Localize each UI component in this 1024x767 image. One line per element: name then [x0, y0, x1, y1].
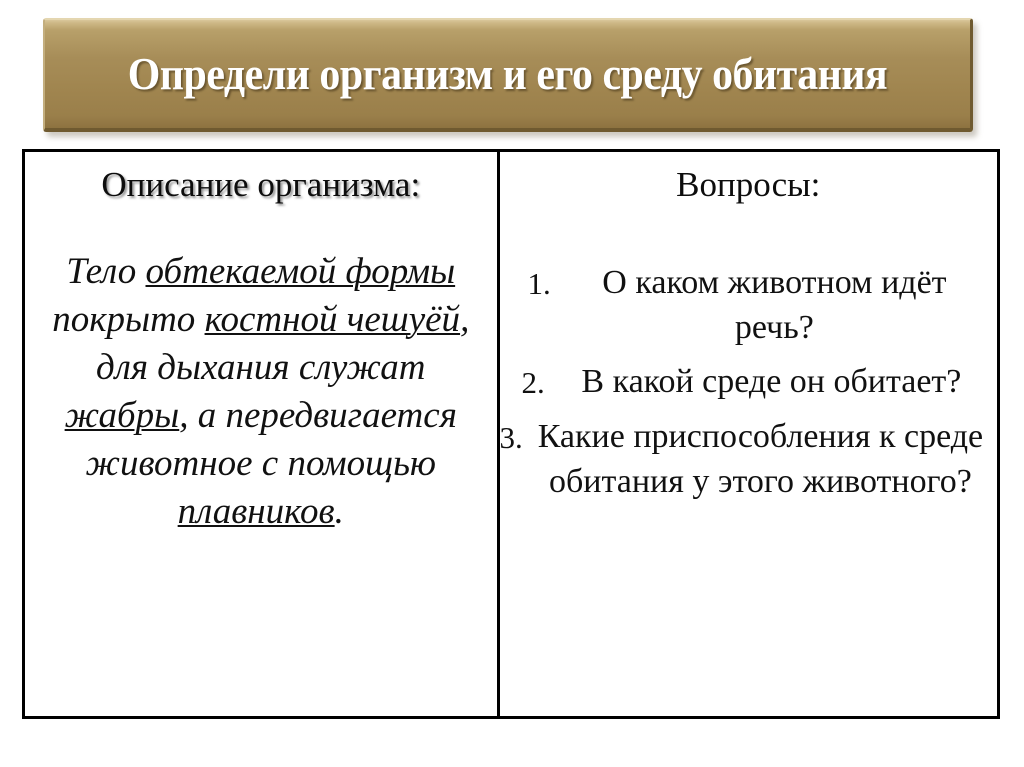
- questions-list: 1. О каком животном идёт речь? 2. В како…: [500, 260, 997, 504]
- organism-description-text: Тело обтекаемой формы покрыто костной че…: [25, 248, 497, 536]
- desc-segment-plain-2: покрыто: [52, 299, 204, 340]
- slide-title-banner: Определи организм и его среду обитания: [43, 18, 973, 132]
- question-number: 3.: [500, 414, 532, 460]
- question-number: 2.: [522, 359, 554, 405]
- comparison-table: Описание организма: Тело обтекаемой форм…: [22, 149, 1000, 719]
- question-text: В какой среде он обитает?: [554, 359, 989, 404]
- page-title: Определи организм и его среду обитания: [77, 49, 937, 99]
- desc-segment-underlined-2: костной чешуёй: [205, 299, 461, 340]
- list-item: 1. О каком животном идёт речь?: [500, 260, 997, 350]
- desc-segment-plain-1: Тело: [66, 251, 145, 292]
- list-item: 3. Какие приспособления к среде обитания…: [500, 414, 997, 504]
- question-number: 1.: [528, 260, 560, 306]
- question-text: О каком животном идёт речь?: [560, 260, 989, 350]
- desc-segment-underlined-3: жабры: [65, 395, 180, 436]
- question-text: Какие приспособления к среде обитания у …: [532, 414, 989, 504]
- desc-segment-plain-5: .: [335, 491, 344, 532]
- table-column-questions: Вопросы: 1. О каком животном идёт речь? …: [500, 152, 997, 716]
- list-item: 2. В какой среде он обитает?: [500, 359, 997, 405]
- description-column-header: Описание организма:: [25, 165, 497, 205]
- questions-column-header: Вопросы:: [500, 165, 997, 205]
- desc-segment-underlined-4: плавников: [178, 491, 335, 532]
- desc-segment-underlined-1: обтекаемой формы: [146, 251, 456, 292]
- table-column-description: Описание организма: Тело обтекаемой форм…: [25, 152, 500, 716]
